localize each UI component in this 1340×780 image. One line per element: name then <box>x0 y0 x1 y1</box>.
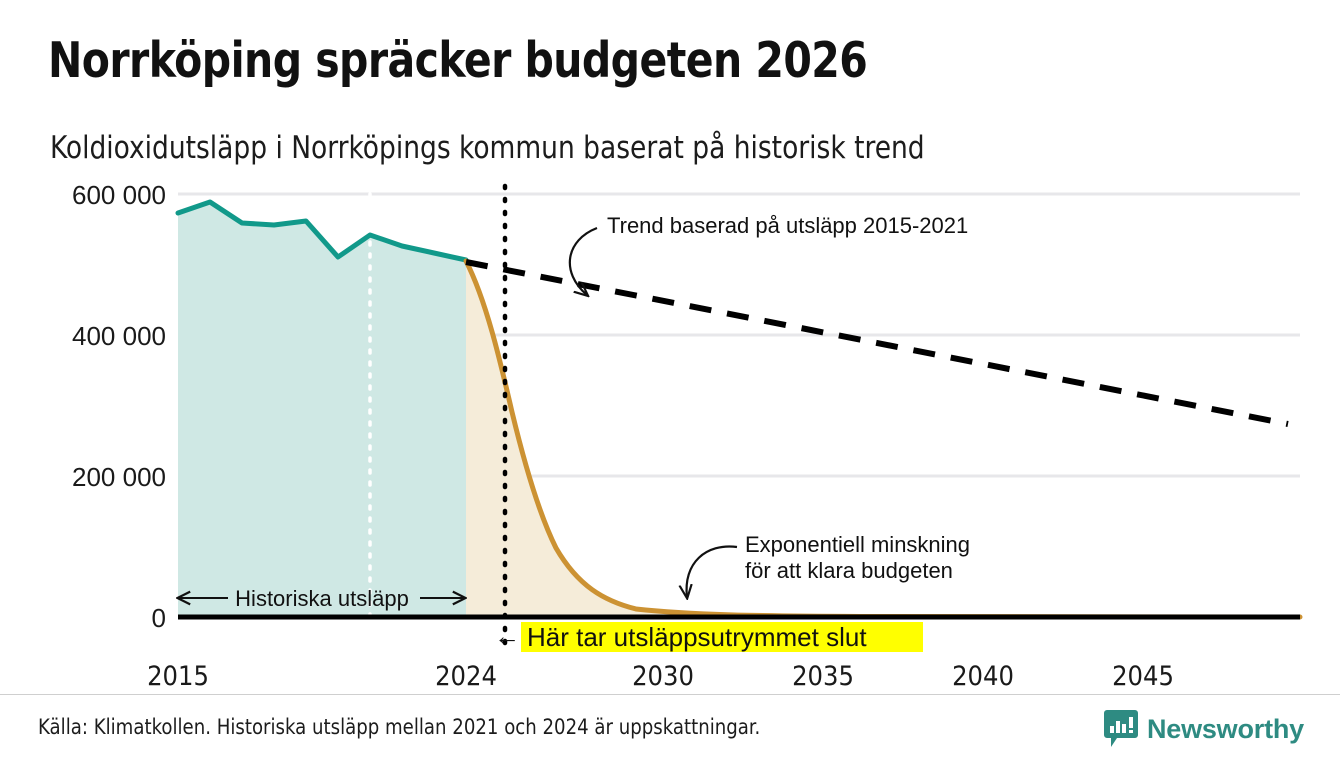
chart-figure: Norrköping spräcker budgeten 2026 Koldio… <box>0 0 1340 780</box>
y-tick-label: 0 <box>152 603 166 633</box>
source-note: Källa: Klimatkollen. Historiska utsläpp … <box>38 712 760 742</box>
budget-depleted-label: Här tar utsläppsutrymmet slut <box>527 622 867 652</box>
newsworthy-bar-chart-bubble-icon <box>1104 710 1138 748</box>
y-tick-label: 200 000 <box>72 462 166 492</box>
budget-depleted-annotation: ← Här tar utsläppsutrymmet slut <box>494 621 923 652</box>
footer-divider <box>0 694 1340 695</box>
exponential-annotation-line2: för att klara budgeten <box>745 558 953 583</box>
historical-emissions-area <box>178 202 466 617</box>
x-tick-label: 2040 <box>952 661 1014 692</box>
y-tick-label: 600 000 <box>72 180 166 210</box>
newsworthy-logo: Newsworthy <box>1104 710 1304 748</box>
x-tick-label: 2035 <box>792 661 854 692</box>
x-tick-label: 2045 <box>1112 661 1174 692</box>
newsworthy-logo-text: Newsworthy <box>1147 714 1304 745</box>
x-tick-label: 2030 <box>632 661 694 692</box>
y-axis-ticks: 600 000 400 000 200 000 0 <box>72 180 166 633</box>
x-tick-label: 2015 <box>147 661 209 692</box>
x-tick-label: 2024 <box>435 661 497 692</box>
trend-annotation-label: Trend baserad på utsläpp 2015-2021 <box>607 213 968 238</box>
trend-annotation: Trend baserad på utsläpp 2015-2021 <box>570 213 968 295</box>
plot-area: 600 000 400 000 200 000 0 Historiska uts… <box>0 0 1340 780</box>
y-tick-label: 400 000 <box>72 321 166 351</box>
budget-depleted-arrow-icon: ← <box>494 621 520 651</box>
historical-trend-dashed-line <box>466 262 1288 424</box>
exponential-annotation-line1: Exponentiell minskning <box>745 532 970 557</box>
historical-span-label: Historiska utsläpp <box>235 586 409 611</box>
exponential-annotation: Exponentiell minskning för att klara bud… <box>687 532 970 597</box>
x-axis-ticks: 2015 2024 2030 2035 2040 2045 <box>147 661 1174 692</box>
